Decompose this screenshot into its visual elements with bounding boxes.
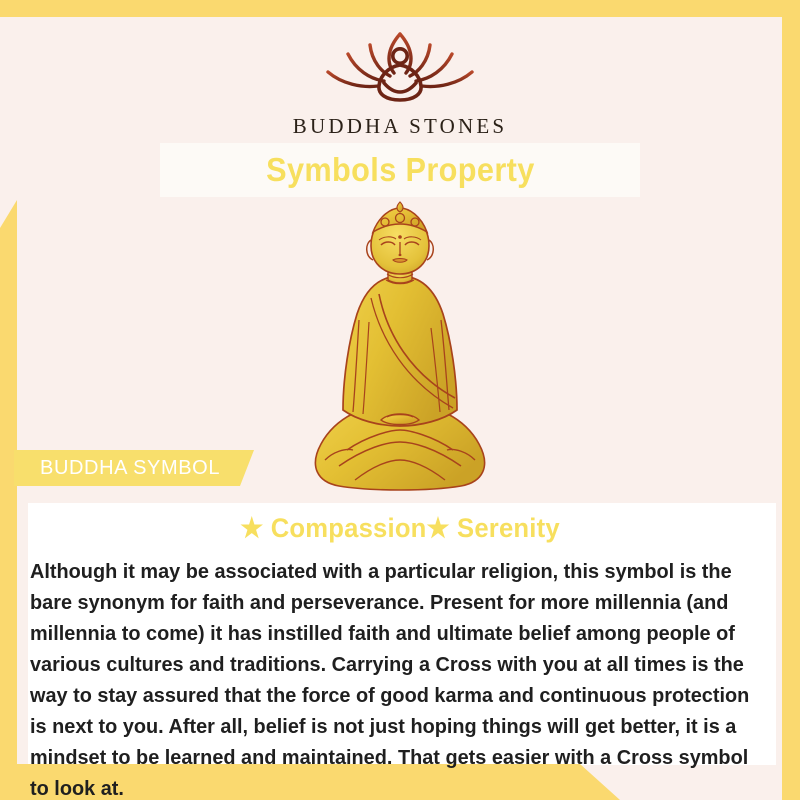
brand-logo: BUDDHA STONES	[0, 24, 800, 139]
title-banner: Symbols Property	[160, 143, 640, 197]
frame-left-band	[0, 200, 17, 800]
lotus-meditation-icon	[314, 24, 486, 108]
seated-buddha-statue-icon	[295, 198, 505, 498]
frame-top-band	[0, 0, 800, 17]
ribbon-label: BUDDHA SYMBOL	[14, 457, 220, 480]
section-body-text: Although it may be associated with a par…	[30, 556, 752, 800]
page-title: Symbols Property	[266, 151, 535, 189]
infographic-page: BUDDHA STONES Symbols Property	[0, 0, 800, 800]
brand-wordmark: BUDDHA STONES	[293, 114, 508, 139]
section-subtitle: ★ Compassion★ Serenity	[20, 513, 780, 544]
section-ribbon: BUDDHA SYMBOL	[14, 450, 254, 486]
